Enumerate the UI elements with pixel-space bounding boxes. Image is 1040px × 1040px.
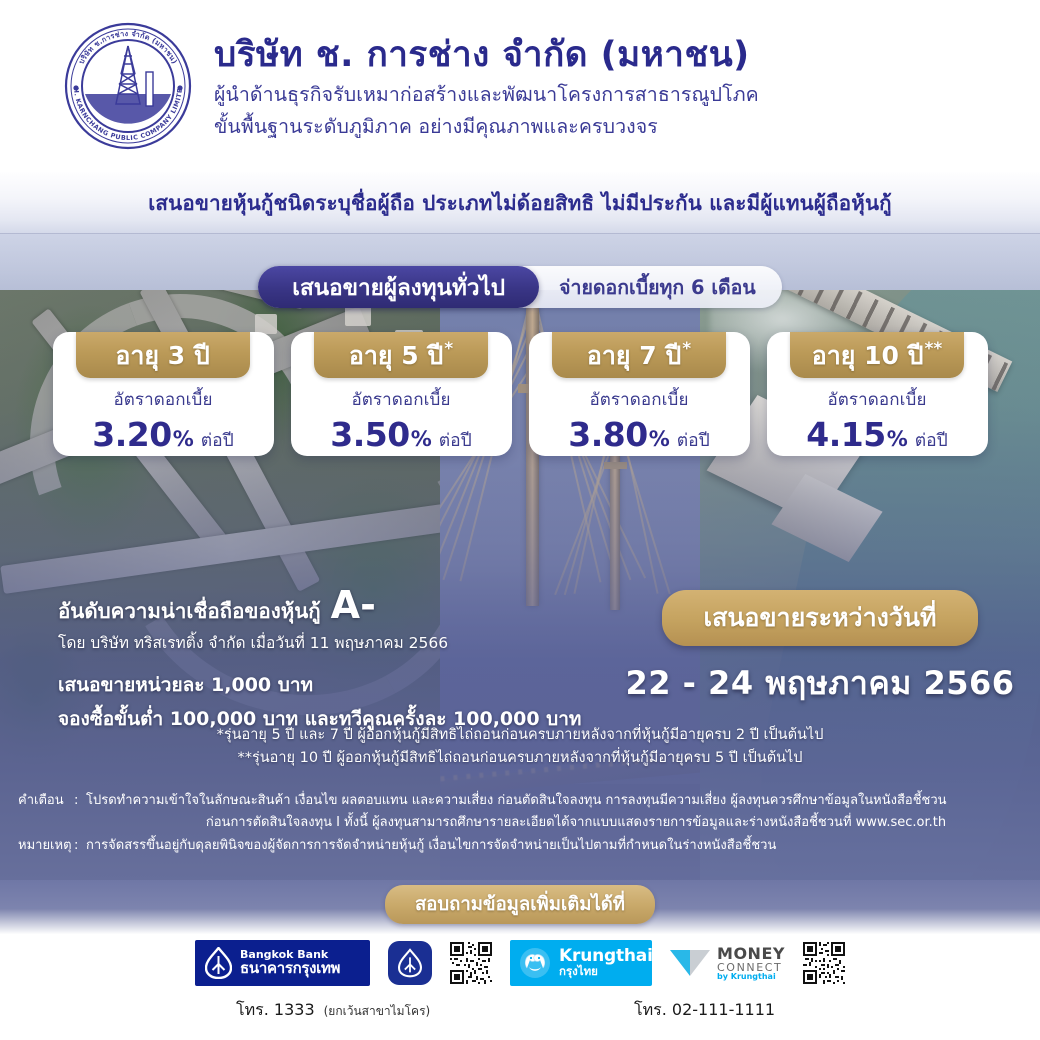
money-connect-by-line: by Krungthai [717,973,785,981]
seal-icon: บริษัท ช.การช่าง จำกัด (มหาชน) CH. KARNC… [58,16,198,156]
company-tagline-line-1: ผู้นำด้านธุรกิจรับเหมาก่อสร้างและพัฒนาโค… [214,82,759,109]
rate-card-footnote-marker: * [444,341,453,358]
rate-card-caption: อัตราดอกเบี้ย [827,386,926,413]
rate-card-value: 3.80 [568,415,647,454]
disclaimer-warning-label: คำเตือน [0,790,74,812]
rate-card-header: อายุ 3 ปี [76,332,250,378]
rate-card-value-row: 3.80 % ต่อปี [568,415,709,454]
pill-retail-investors: เสนอขายผู้ลงทุนทั่วไป [258,266,539,308]
disclaimer-block: คำเตือน : โปรดทำความเข้าใจในลักษณะสินค้า… [0,790,1040,857]
contact-badge: สอบถามข้อมูลเพิ่มเติมได้ที่ [385,885,655,924]
disclaimer-note-label: หมายเหตุ [0,835,74,857]
rate-card-value: 3.50 [330,415,409,454]
rate-card-header: อายุ 10 ปี ** [790,332,964,378]
rate-card: อายุ 10 ปี ** อัตราดอกเบี้ย 4.15 % ต่อปี [767,332,988,456]
rate-card-percent-sign: % [411,427,432,451]
footnote-list: *รุ่นอายุ 5 ปี และ 7 ปี ผู้ออกหุ้นกู้มีส… [0,724,1040,771]
bangkok-bank-app-icon[interactable] [388,941,432,985]
money-connect-word-money: MONEY [717,946,785,962]
credit-rating-block: อันดับความน่าเชื่อถือของหุ้นกู้ A- โดย บ… [58,586,618,734]
offer-pill-group: เสนอขายผู้ลงทุนทั่วไป จ่ายดอกเบี้ยทุก 6 … [258,266,781,308]
credit-rating-label: อันดับความน่าเชื่อถือของหุ้นกู้ [58,595,321,628]
contact-badge-row: สอบถามข้อมูลเพิ่มเติมได้ที่ [0,880,1040,924]
bangkok-bank-leaf-icon [205,947,232,979]
bangkok-bank-phone: โทร. 1333 [236,998,315,1023]
disclaimer-note-colon: : [74,835,86,857]
rate-card: อายุ 7 ปี * อัตราดอกเบี้ย 3.80 % ต่อปี [529,332,750,456]
rate-card-value-row: 3.20 % ต่อปี [92,415,233,454]
rate-card-caption: อัตราดอกเบี้ย [113,386,212,413]
krungthai-phone: โทร. 02-111-1111 [634,998,775,1023]
header-text-block: บริษัท ช. การช่าง จำกัด (มหาชน) ผู้นำด้า… [214,31,759,140]
footnote-item: *รุ่นอายุ 5 ปี และ 7 ปี ผู้ออกหุ้นกู้มีส… [0,724,1040,747]
rate-card: อายุ 5 ปี * อัตราดอกเบี้ย 3.50 % ต่อปี [291,332,512,456]
contact-phone-row: โทร. 1333 (ยกเว้นสาขาไมโคร) โทร. 02-111-… [0,998,1040,1022]
page-header: บริษัท ช.การช่าง จำกัด (มหาชน) CH. KARNC… [0,0,1040,172]
company-tagline-line-2: ขั้นพื้นฐานระดับภูมิภาค อย่างมีคุณภาพและ… [214,114,759,141]
money-connect-qr-code[interactable] [803,942,845,984]
rate-card-term: อายุ 7 ปี [587,343,681,368]
rate-card-list: อายุ 3 ปี อัตราดอกเบี้ย 3.20 % ต่อปี [0,332,1040,456]
rate-card-header: อายุ 7 ปี * [552,332,726,378]
offering-banner: เสนอขายหุ้นกู้ชนิดระบุชื่อผู้ถือ ประเภทไ… [0,172,1040,234]
footnote-item: **รุ่นอายุ 10 ปี ผู้ออกหุ้นกู้มีสิทธิไถ่… [0,747,1040,770]
page-footer: สอบถามข้อมูลเพิ่มเติมได้ที่ Bangkok Bank… [0,880,1040,1040]
bangkok-bank-logo[interactable]: Bangkok Bank ธนาคารกรุงเทพ [195,940,370,986]
rate-card-caption: อัตราดอกเบี้ย [351,386,450,413]
rate-card-term: อายุ 10 ปี [812,343,924,368]
offer-pill-row: เสนอขายผู้ลงทุนทั่วไป จ่ายดอกเบี้ยทุก 6 … [0,266,1040,308]
pill-interest-frequency: จ่ายดอกเบี้ยทุก 6 เดือน [539,272,756,303]
disclaimer-warning-line-1: โปรดทำความเข้าใจในลักษณะสินค้า เงื่อนไข … [86,790,1040,812]
krungthai-logo[interactable]: Krungthai กรุงไทย [510,940,652,986]
offer-period-badge: เสนอขายระหว่างวันที่ [662,590,979,646]
rate-card-value: 4.15 [806,415,885,454]
rate-card-percent-sign: % [887,427,908,451]
disclaimer-warning-line-2: ก่อนการตัดสินใจลงทุน I ทั้งนี้ ผู้ลงทุนส… [86,812,1040,834]
rate-card-percent-sign: % [649,427,670,451]
company-name: บริษัท ช. การช่าง จำกัด (มหาชน) [214,35,759,76]
bangkok-bank-name-th: ธนาคารกรุงเทพ [240,961,340,977]
rate-card: อายุ 3 ปี อัตราดอกเบี้ย 3.20 % ต่อปี [53,332,274,456]
disclaimer-note-line: การจัดสรรขึ้นอยู่กับดุลยพินิจของผู้จัดกา… [86,835,1040,857]
bangkok-bank-phone-block: โทร. 1333 (ยกเว้นสาขาไมโคร) [236,998,430,1023]
offer-period-block: เสนอขายระหว่างวันที่ 22 - 24 พฤษภาคม 256… [620,590,1020,709]
rate-card-period: ต่อปี [677,426,710,454]
hero-content: เสนอขายผู้ลงทุนทั่วไป จ่ายดอกเบี้ยทุก 6 … [0,234,1040,880]
offer-unit-price: เสนอขายหน่วยละ 1,000 บาท [58,670,618,700]
bangkok-bank-leaf-icon [397,948,423,978]
rate-card-footnote-marker: * [682,341,691,358]
rate-card-term: อายุ 5 ปี [349,343,443,368]
credit-rating-grade: A- [331,586,376,624]
disclaimer-warning-row: คำเตือน : โปรดทำความเข้าใจในลักษณะสินค้า… [0,790,1040,812]
credit-rating-line: อันดับความน่าเชื่อถือของหุ้นกู้ A- [58,586,618,628]
rate-card-term: อายุ 3 ปี [115,343,209,368]
money-connect-arrow-icon [670,948,710,978]
rate-card-period: ต่อปี [201,426,234,454]
rate-card-caption: อัตราดอกเบี้ย [589,386,688,413]
rate-card-header: อายุ 5 ปี * [314,332,488,378]
krungthai-nok-vayupak-icon [518,946,552,980]
disclaimer-warning-row-2: ก่อนการตัดสินใจลงทุน I ทั้งนี้ ผู้ลงทุนส… [0,812,1040,834]
rate-card-period: ต่อปี [439,426,472,454]
rate-card-value-row: 3.50 % ต่อปี [330,415,471,454]
bangkok-bank-qr-code[interactable] [450,942,492,984]
infographic-page: บริษัท ช.การช่าง จำกัด (มหาชน) CH. KARNC… [0,0,1040,1040]
offering-banner-text: เสนอขายหุ้นกู้ชนิดระบุชื่อผู้ถือ ประเภทไ… [148,187,892,220]
company-seal-logo: บริษัท ช.การช่าง จำกัด (มหาชน) CH. KARNC… [58,16,198,156]
offer-period-dates: 22 - 24 พฤษภาคม 2566 [625,658,1014,709]
money-connect-logo[interactable]: MONEY CONNECT by Krungthai [670,946,785,981]
rate-card-value-row: 4.15 % ต่อปี [806,415,947,454]
hero-section: เสนอขายผู้ลงทุนทั่วไป จ่ายดอกเบี้ยทุก 6 … [0,234,1040,880]
credit-rating-agency-line: โดย บริษัท ทริสเรทติ้ง จำกัด เมื่อวันที่… [58,630,618,655]
rate-card-value: 3.20 [92,415,171,454]
rate-card-percent-sign: % [173,427,194,451]
rate-card-period: ต่อปี [915,426,948,454]
rate-card-footnote-marker: ** [925,341,943,358]
disclaimer-note-row: หมายเหตุ : การจัดสรรขึ้นอยู่กับดุลยพินิจ… [0,835,1040,857]
disclaimer-colon: : [74,790,86,812]
money-connect-word-connect: CONNECT [717,962,785,973]
bank-logo-row: Bangkok Bank ธนาคารกรุงเทพ [0,940,1040,986]
bangkok-bank-phone-note: (ยกเว้นสาขาไมโคร) [324,1002,431,1021]
krungthai-name-th: กรุงไทย [559,966,653,978]
